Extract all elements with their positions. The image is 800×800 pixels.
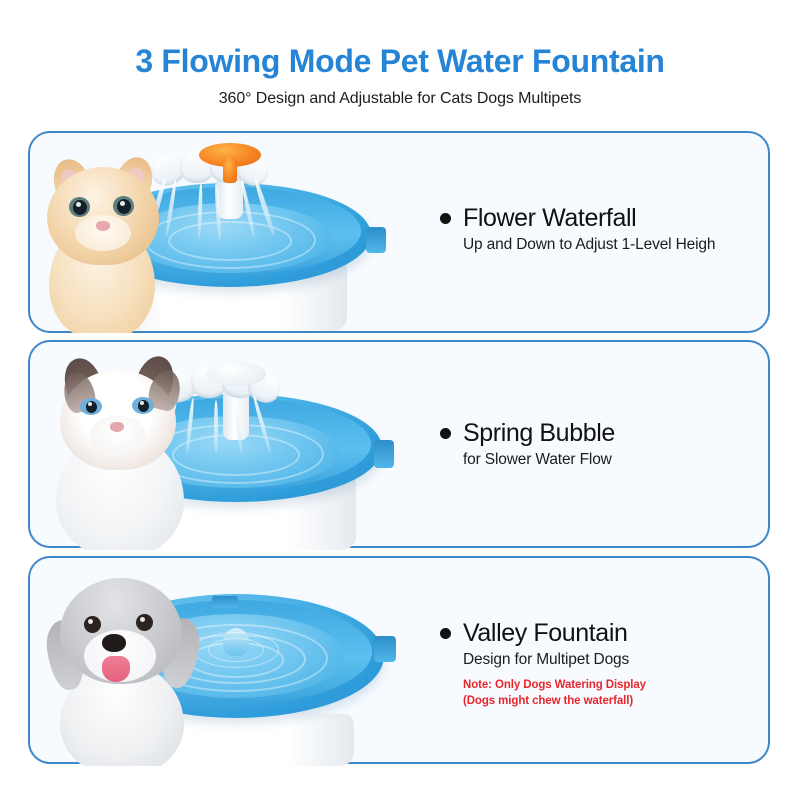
feature-note-line-1: Note: Only Dogs Watering Display (463, 678, 770, 694)
feature-panel-valley-fountain: Valley Fountain Design for Multipet Dogs… (28, 556, 770, 764)
page-subtitle: 360° Design and Adjustable for Cats Dogs… (0, 90, 800, 108)
pet-photo-orange-tabby-kitten (27, 143, 177, 333)
pet-photo-ragdoll-cat (42, 350, 200, 550)
infographic-page: 3 Flowing Mode Pet Water Fountain 360° D… (0, 0, 800, 800)
feature-panel-flower-waterfall: Flower Waterfall Up and Down to Adjust 1… (28, 131, 770, 333)
page-title: 3 Flowing Mode Pet Water Fountain (0, 45, 800, 77)
feature-heading-row: Spring Bubble (440, 420, 770, 446)
bullet-icon (440, 628, 451, 639)
feature-heading-row: Valley Fountain (440, 620, 770, 646)
feature-subtext: Up and Down to Adjust 1-Level Heigh (463, 236, 770, 254)
bullet-icon (440, 428, 451, 439)
feature-heading: Spring Bubble (463, 420, 615, 446)
feature-panel-spring-bubble: Spring Bubble for Slower Water Flow (28, 340, 770, 548)
feature-subtext: for Slower Water Flow (463, 451, 770, 469)
feature-heading: Valley Fountain (463, 620, 627, 646)
feature-heading-row: Flower Waterfall (440, 205, 770, 231)
text-block-flower-waterfall: Flower Waterfall Up and Down to Adjust 1… (440, 133, 770, 331)
feature-subtext: Design for Multipet Dogs (463, 651, 770, 669)
bullet-icon (440, 213, 451, 224)
header: 3 Flowing Mode Pet Water Fountain 360° D… (0, 0, 800, 108)
text-block-spring-bubble: Spring Bubble for Slower Water Flow (440, 342, 770, 546)
feature-heading: Flower Waterfall (463, 205, 636, 231)
feature-note: Note: Only Dogs Watering Display (Dogs m… (463, 678, 770, 709)
pet-photo-gray-poodle-dog (44, 568, 200, 766)
feature-note-line-2: (Dogs might chew the waterfall) (463, 694, 770, 710)
text-block-valley-fountain: Valley Fountain Design for Multipet Dogs… (440, 558, 770, 762)
